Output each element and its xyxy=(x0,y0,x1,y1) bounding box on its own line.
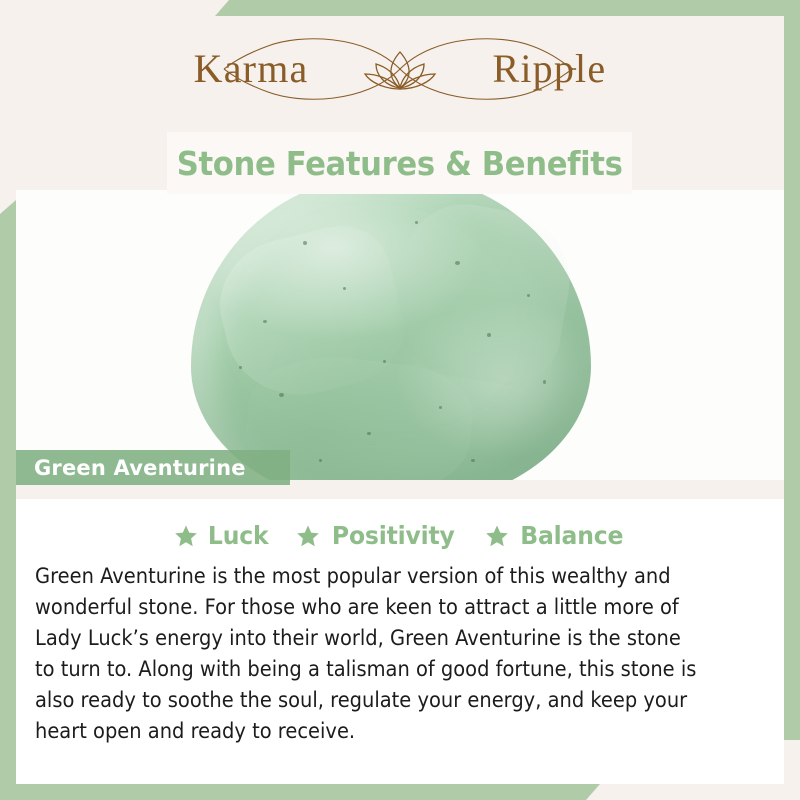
lotus-icon xyxy=(365,52,435,89)
stone-info-panel: Luck Positivity Balance Green Aventurine… xyxy=(16,485,784,784)
frame-border-top xyxy=(215,0,800,16)
green-aventurine-stone-image xyxy=(191,190,591,480)
stone-speck xyxy=(471,459,475,462)
stone-photo xyxy=(16,190,784,480)
stone-speck xyxy=(383,360,386,363)
stone-speck xyxy=(439,406,442,409)
stone-facet xyxy=(385,195,580,393)
brand-logo: Karma Ripple xyxy=(0,26,800,112)
frame-border-left xyxy=(0,200,16,800)
stone-speck xyxy=(319,459,322,462)
section-title-banner: Stone Features & Benefits xyxy=(167,132,632,194)
benefit-item: Luck xyxy=(174,521,270,550)
brand-name-second: Ripple xyxy=(492,49,606,89)
stone-name: Green Aventurine xyxy=(34,456,246,480)
benefit-label: Luck xyxy=(208,521,269,550)
stone-speck xyxy=(543,380,546,384)
frame-border-bottom xyxy=(0,784,600,800)
stone-speck xyxy=(527,294,530,297)
panel-top-strip xyxy=(16,485,784,499)
benefit-item: Positivity xyxy=(296,521,459,550)
stone-description: Green Aventurine is the most popular ver… xyxy=(35,561,705,747)
product-infographic: Karma Ripple Stone Features & Benefits xyxy=(0,0,800,800)
star-icon xyxy=(174,524,198,548)
stone-speck xyxy=(415,221,418,224)
stone-speck xyxy=(303,241,307,245)
benefit-label: Positivity xyxy=(332,521,455,550)
section-title: Stone Features & Benefits xyxy=(177,144,623,183)
stone-speck xyxy=(455,261,460,265)
brand-name-first: Karma xyxy=(194,49,309,89)
benefit-item: Balance xyxy=(485,521,627,550)
stone-speck xyxy=(279,393,284,397)
benefits-list: Luck Positivity Balance xyxy=(16,521,784,550)
stone-name-label: Green Aventurine xyxy=(16,450,290,485)
star-icon xyxy=(296,524,320,548)
star-icon xyxy=(485,524,509,548)
benefit-label: Balance xyxy=(520,521,623,550)
